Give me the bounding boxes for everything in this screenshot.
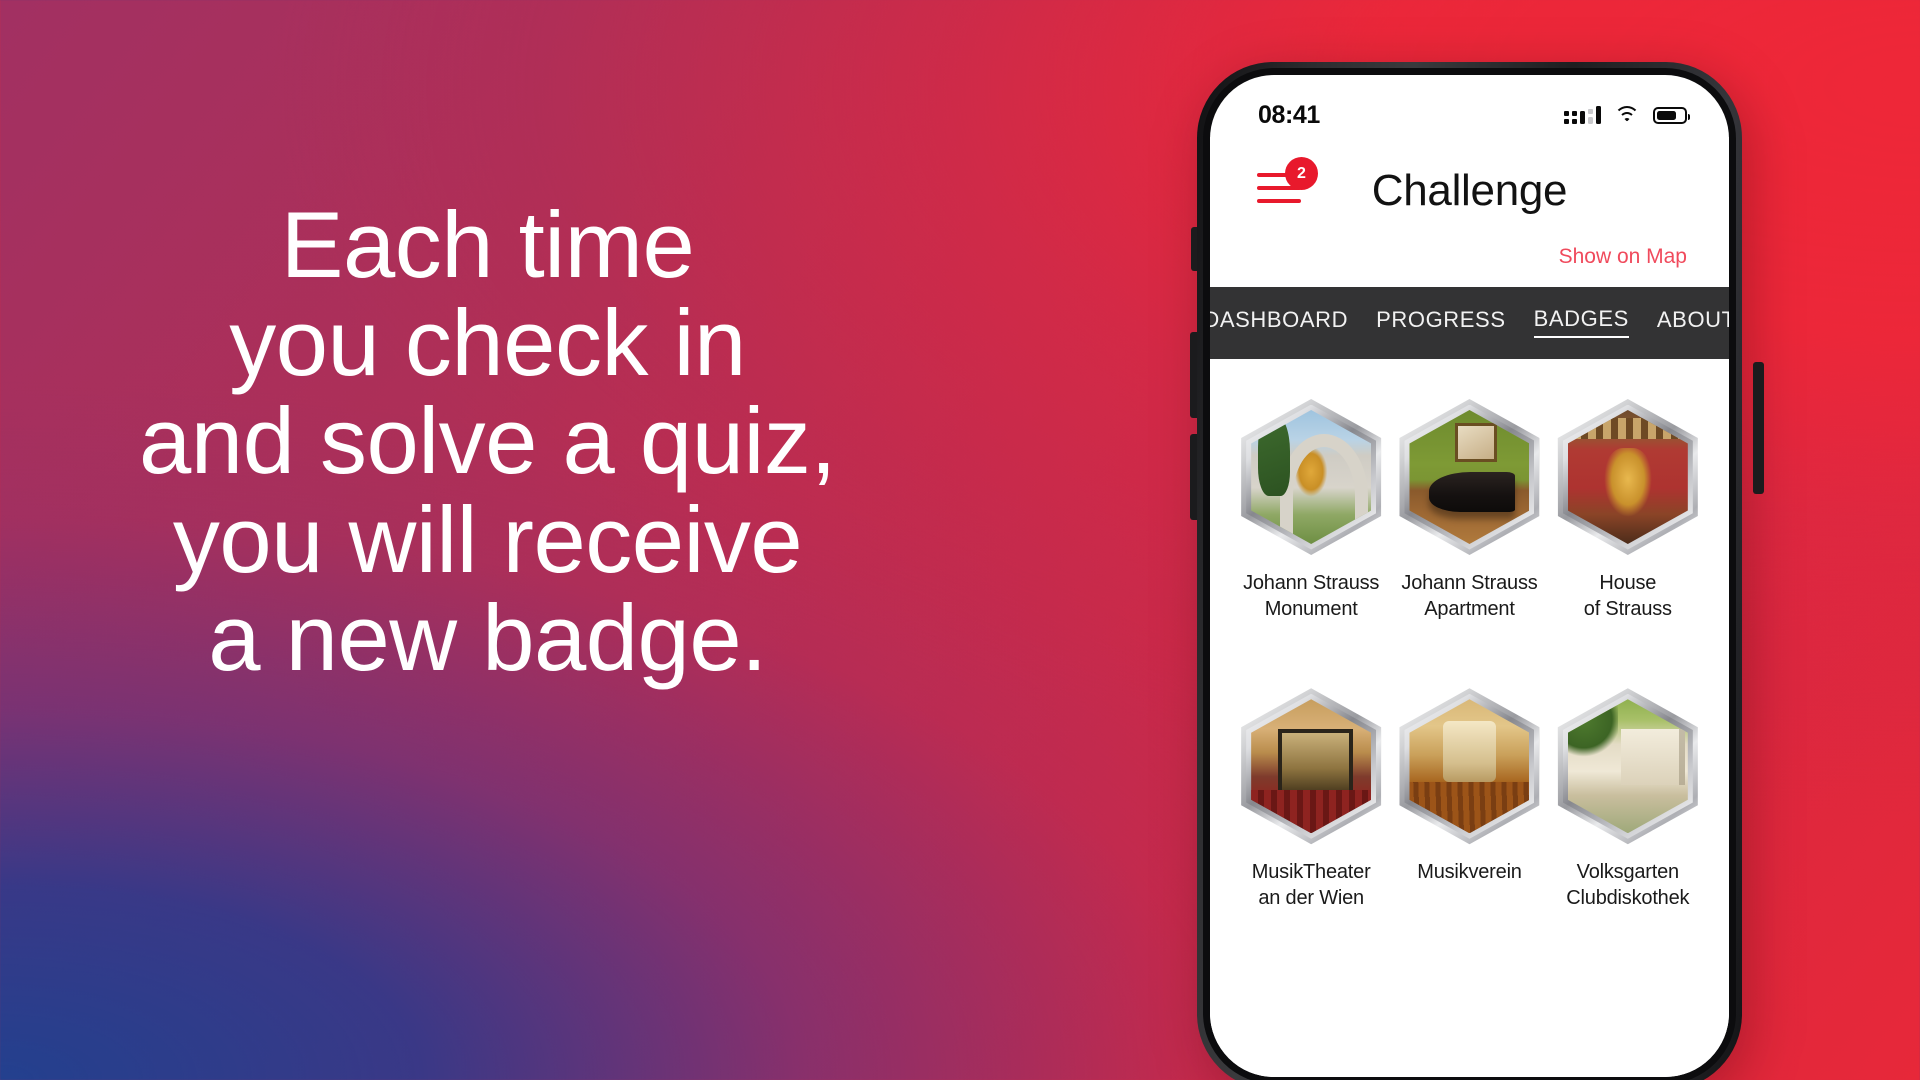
hexagon-badge-icon bbox=[1558, 399, 1698, 555]
app-navbar: 2 Challenge bbox=[1210, 137, 1729, 245]
tab-badges[interactable]: BADGES bbox=[1534, 306, 1629, 338]
hexagon-badge-icon bbox=[1558, 688, 1698, 844]
menu-notification-badge: 2 bbox=[1285, 157, 1318, 190]
badge-label: Musikverein bbox=[1417, 860, 1522, 886]
tab-dashboard[interactable]: DASHBOARD bbox=[1210, 307, 1348, 337]
hamburger-menu-icon[interactable]: 2 bbox=[1257, 173, 1303, 209]
show-on-map-link[interactable]: Show on Map bbox=[1559, 245, 1687, 268]
hexagon-badge-icon bbox=[1399, 399, 1539, 555]
badge-label: Johann Strauss Apartment bbox=[1401, 571, 1537, 622]
promo-headline: Each time you check in and solve a quiz,… bbox=[0, 196, 975, 687]
badges-grid: Johann Strauss Monument Johann Strauss A… bbox=[1210, 359, 1729, 1077]
hexagon-badge-icon bbox=[1241, 399, 1381, 555]
hexagon-badge-icon bbox=[1399, 688, 1539, 844]
badge-label: House of Strauss bbox=[1584, 571, 1672, 622]
phone-frame: 08:41 bbox=[1197, 62, 1742, 1080]
tab-progress[interactable]: PROGRESS bbox=[1376, 307, 1506, 337]
badge-item[interactable]: House of Strauss bbox=[1549, 399, 1707, 622]
phone-mockup: 08:41 bbox=[1197, 62, 1757, 1080]
tab-bar: DASHBOARD PROGRESS BADGES ABOUT bbox=[1210, 287, 1729, 359]
badge-label: MusikTheater an der Wien bbox=[1252, 860, 1371, 911]
status-icon-group bbox=[1564, 106, 1687, 125]
badge-row: Johann Strauss Monument Johann Strauss A… bbox=[1232, 399, 1707, 622]
hexagon-badge-icon bbox=[1241, 688, 1381, 844]
badge-item[interactable]: MusikTheater an der Wien bbox=[1232, 688, 1390, 911]
status-clock: 08:41 bbox=[1258, 101, 1320, 130]
wifi-icon bbox=[1614, 106, 1640, 125]
power-button[interactable] bbox=[1753, 362, 1764, 494]
badge-item[interactable]: Johann Strauss Apartment bbox=[1390, 399, 1548, 622]
tab-about[interactable]: ABOUT bbox=[1657, 307, 1729, 337]
badge-item[interactable]: Johann Strauss Monument bbox=[1232, 399, 1390, 622]
page-title: Challenge bbox=[1372, 166, 1567, 216]
badge-label: Volksgarten Clubdiskothek bbox=[1566, 860, 1689, 911]
phone-screen: 08:41 bbox=[1210, 75, 1729, 1077]
cellular-signal-icon bbox=[1564, 106, 1601, 124]
status-bar: 08:41 bbox=[1210, 75, 1729, 137]
badge-item[interactable]: Volksgarten Clubdiskothek bbox=[1549, 688, 1707, 911]
map-link-row: Show on Map bbox=[1210, 245, 1729, 287]
badge-item[interactable]: Musikverein bbox=[1390, 688, 1548, 911]
battery-icon bbox=[1653, 107, 1687, 124]
badge-label: Johann Strauss Monument bbox=[1243, 571, 1379, 622]
badge-row: MusikTheater an der Wien Musikverein bbox=[1232, 688, 1707, 911]
